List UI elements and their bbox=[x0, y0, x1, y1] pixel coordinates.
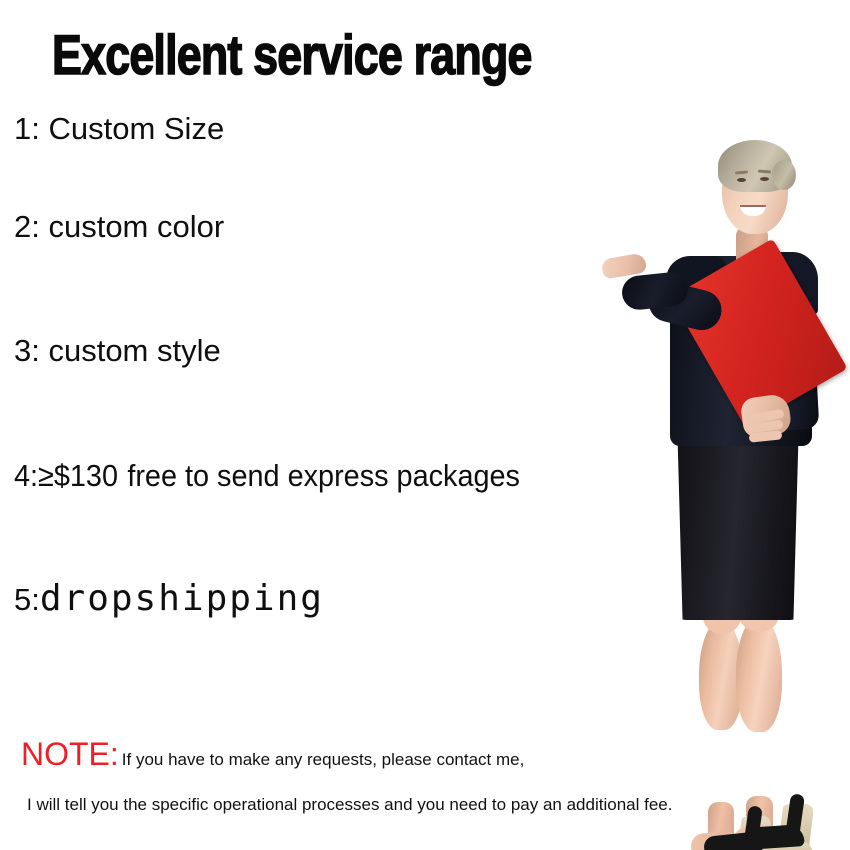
eye-right bbox=[760, 177, 769, 181]
service-item-5: 5:dropshipping bbox=[14, 582, 324, 617]
note-block: NOTE:If you have to make any requests, p… bbox=[21, 736, 524, 773]
service-item-2: 2: custom color bbox=[14, 210, 224, 244]
service-item-5-number: 5: bbox=[14, 582, 40, 617]
note-label: NOTE: bbox=[21, 736, 119, 772]
businesswoman-photo bbox=[596, 60, 850, 850]
hair-bun bbox=[772, 160, 796, 190]
calf-right bbox=[736, 616, 782, 732]
note-line-1: If you have to make any requests, please… bbox=[122, 750, 525, 769]
service-item-4-price: 4:≥$130 bbox=[14, 458, 118, 493]
pencil-skirt bbox=[672, 428, 804, 620]
note-line-2: I will tell you the specific operational… bbox=[27, 795, 672, 815]
promo-banner: Excellent service range 1: Custom Size 2… bbox=[0, 0, 850, 850]
page-title: Excellent service range bbox=[52, 24, 532, 86]
eye-left bbox=[737, 178, 746, 182]
service-item-5-text: dropshipping bbox=[40, 578, 324, 619]
service-item-1: 1: Custom Size bbox=[14, 112, 224, 146]
service-item-4: 4:≥$130free to send express packages bbox=[14, 459, 520, 493]
service-item-4-text: free to send express packages bbox=[127, 458, 520, 493]
service-item-3: 3: custom style bbox=[14, 334, 221, 368]
